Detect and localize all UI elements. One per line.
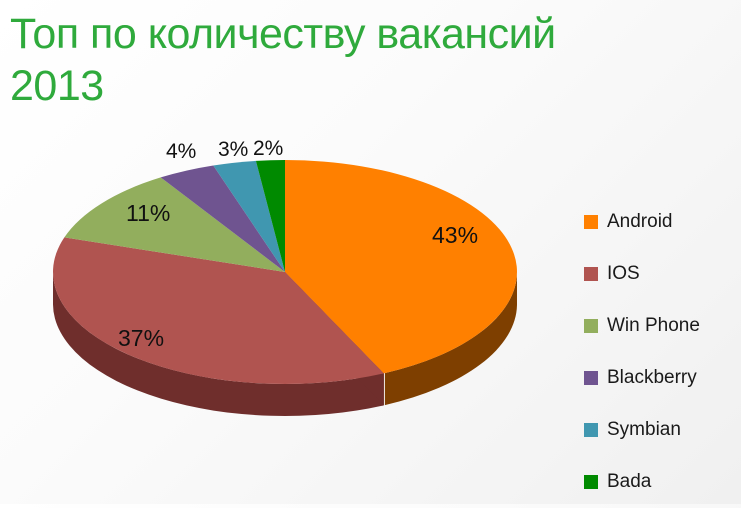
legend-swatch-icon-symbian <box>584 423 598 437</box>
legend-swatch-icon-win-phone <box>584 319 598 333</box>
legend-swatch-icon-ios <box>584 267 598 281</box>
slice-label-win-phone: 11% <box>126 200 170 227</box>
pie-chart-plot <box>0 120 580 504</box>
slice-label-bada: 2% <box>253 137 283 161</box>
legend-item-win-phone[interactable]: Win Phone <box>584 300 736 352</box>
legend-item-symbian[interactable]: Symbian <box>584 404 736 456</box>
legend-item-android[interactable]: Android <box>584 196 736 248</box>
legend-item-blackberry[interactable]: Blackberry <box>584 352 736 404</box>
legend-item-bada[interactable]: Bada <box>584 456 736 508</box>
slice-label-android: 43% <box>432 222 478 249</box>
chart-page: Топ по количеству вакансий 2013 43% 37% … <box>0 0 741 504</box>
legend-label-ios: IOS <box>607 263 640 285</box>
legend-label-bada: Bada <box>607 471 651 493</box>
pie-chart-svg <box>0 120 580 504</box>
legend-swatch-icon-android <box>584 215 598 229</box>
legend-label-win-phone: Win Phone <box>607 315 700 337</box>
legend-item-ios[interactable]: IOS <box>584 248 736 300</box>
page-title: Топ по количеству вакансий 2013 <box>10 8 570 112</box>
slice-label-blackberry: 4% <box>166 140 196 164</box>
legend-swatch-icon-blackberry <box>584 371 598 385</box>
slice-label-symbian: 3% <box>218 138 248 162</box>
legend-label-symbian: Symbian <box>607 419 681 441</box>
slice-label-ios: 37% <box>118 325 164 352</box>
legend-label-blackberry: Blackberry <box>607 367 697 389</box>
legend-label-android: Android <box>607 211 673 233</box>
chart-legend: Android IOS Win Phone Blackberry Symbian… <box>584 196 736 508</box>
legend-swatch-icon-bada <box>584 475 598 489</box>
